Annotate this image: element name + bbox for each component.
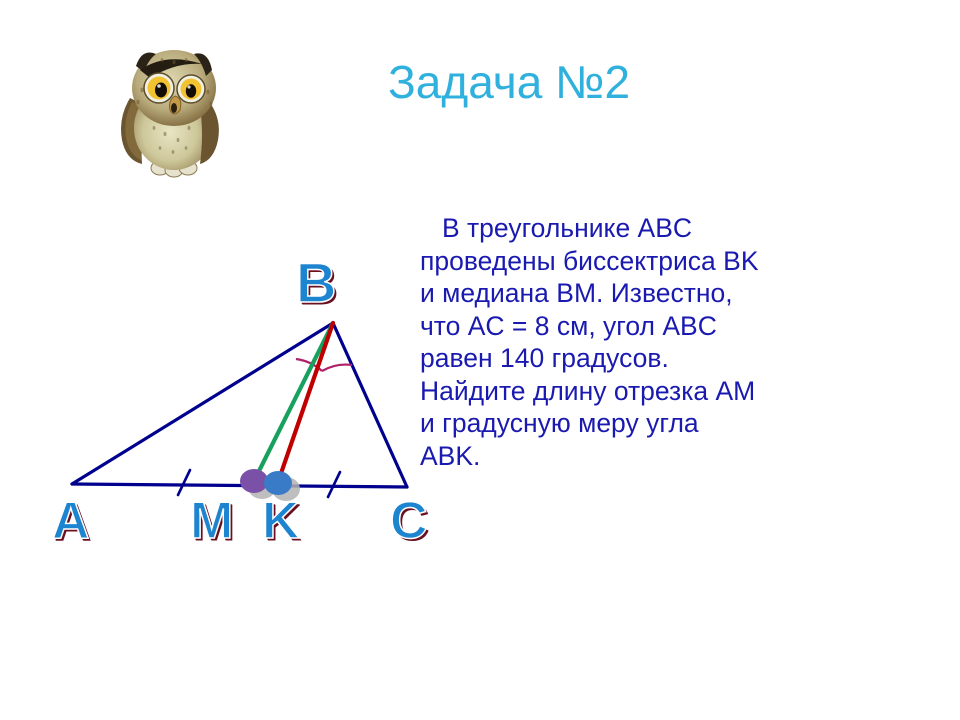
problem-line: ABK.: [420, 440, 840, 473]
vertex-label-a: A: [52, 495, 90, 547]
segment-ac: [72, 484, 407, 487]
problem-statement: В треугольнике ABC проведены биссектриса…: [420, 212, 840, 472]
owl-clipart-image: [116, 36, 232, 180]
problem-line: проведены биссектриса BK: [420, 245, 840, 278]
problem-line: что AC = 8 см, угол ABC: [420, 310, 840, 343]
angle-arcs-at-b: [296, 359, 352, 371]
tick-mc: [328, 472, 340, 497]
slide-canvas: Задача №2: [0, 0, 960, 720]
problem-line: и медиана BM. Известно,: [420, 277, 840, 310]
segment-bc: [333, 323, 407, 487]
tick-am: [178, 470, 190, 495]
page-title: Задача №2: [388, 56, 788, 108]
vertex-label-m: M: [190, 495, 233, 547]
vertex-label-c: C: [390, 495, 428, 547]
point-m-dot: [240, 469, 268, 493]
problem-line: равен 140 градусов.: [420, 342, 840, 375]
problem-line: и градусную меру угла: [420, 407, 840, 440]
triangle-sides: [72, 323, 407, 487]
vertex-label-k: K: [262, 495, 300, 547]
vertex-label-b: B: [296, 255, 336, 311]
problem-line: Найдите длину отрезка AM: [420, 375, 840, 408]
bisector-bk: [278, 323, 333, 482]
problem-line: В треугольнике ABC: [420, 212, 840, 245]
